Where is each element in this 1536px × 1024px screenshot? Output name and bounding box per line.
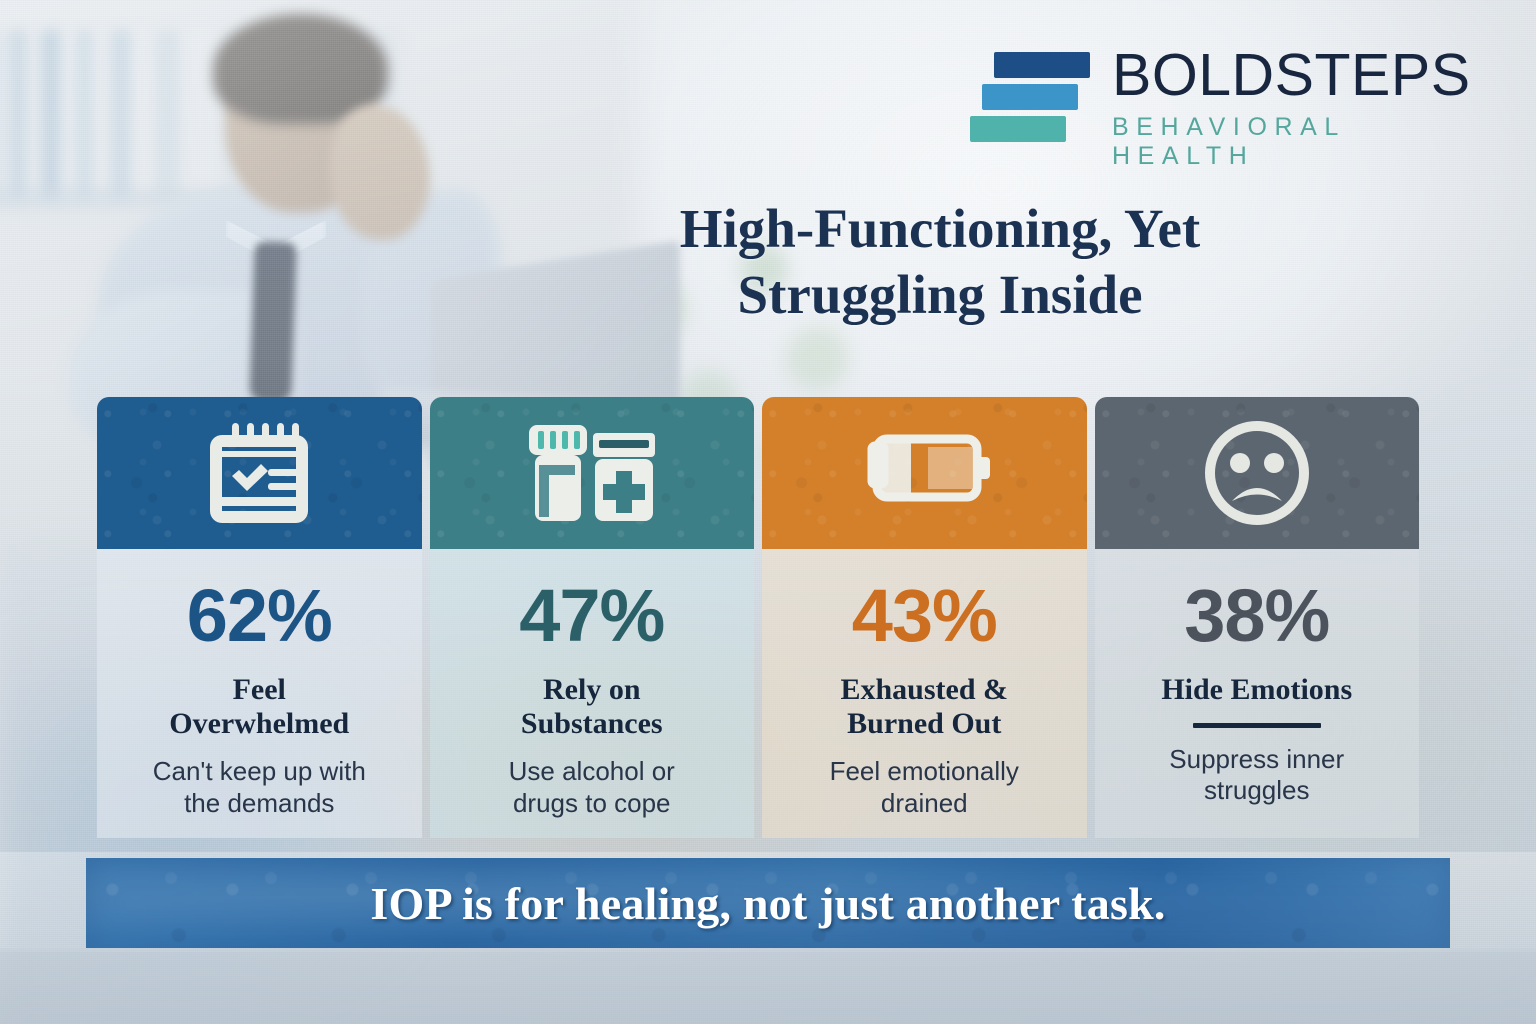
stat-card-body: 38% Hide Emotions Suppress inner struggl… [1095,549,1420,838]
logo-bar-bottom [970,116,1066,142]
stat-title-line-1: Rely on [521,673,663,707]
stat-subtitle-line-1: Can't keep up with [153,756,366,788]
stat-card[interactable]: 62% Feel Overwhelmed Can't keep up with … [97,397,422,838]
stat-title: Hide Emotions [1161,673,1352,707]
stat-percent: 47% [519,579,664,653]
footer-message: IOP is for healing, not just another tas… [370,877,1165,930]
brand-logo-text: BOLDSTEPS BEHAVIORAL HEALTH [1112,46,1490,171]
stat-card-header [430,397,755,549]
footer-banner: IOP is for healing, not just another tas… [86,858,1450,948]
stat-subtitle-line-1: Suppress inner [1169,744,1344,776]
stat-subtitle-line-1: Feel emotionally [830,756,1019,788]
stat-subtitle-line-2: struggles [1169,775,1344,807]
stat-card-header [1095,397,1420,549]
stat-card-header [97,397,422,549]
stat-subtitle: Can't keep up with the demands [153,756,366,819]
page-title: High-Functioning, Yet Struggling Inside [560,196,1320,328]
boldsteps-stairs-icon [970,52,1090,150]
stat-subtitle-line-1: Use alcohol or [509,756,675,788]
stat-title-line-2: Substances [521,707,663,741]
sad-face-icon [1182,419,1332,527]
stat-card-body: 47% Rely on Substances Use alcohol or dr… [430,549,755,838]
brand-logo[interactable]: BOLDSTEPS BEHAVIORAL HEALTH [970,46,1490,158]
infographic-canvas: BOLDSTEPS BEHAVIORAL HEALTH High-Functio… [0,0,1536,1024]
stat-card[interactable]: 38% Hide Emotions Suppress inner struggl… [1095,397,1420,838]
stat-title-line-2: Burned Out [840,707,1008,741]
low-battery-icon [849,419,999,527]
stat-title-line-1: Feel [169,673,349,707]
stat-percent: 43% [852,579,997,653]
bottom-fade [0,948,1536,1024]
stat-subtitle: Suppress inner struggles [1169,744,1344,807]
stat-subtitle: Use alcohol or drugs to cope [509,756,675,819]
stat-subtitle-line-2: the demands [153,788,366,820]
stat-title: Exhausted & Burned Out [840,673,1008,740]
brand-name: BOLDSTEPS [1112,46,1490,105]
stat-card-body: 43% Exhausted & Burned Out Feel emotiona… [762,549,1087,838]
stat-title-line-1: Hide Emotions [1161,673,1352,707]
stat-card-body: 62% Feel Overwhelmed Can't keep up with … [97,549,422,838]
stat-percent: 38% [1184,579,1329,653]
logo-bar-middle [982,84,1078,110]
stat-title-divider [1193,723,1321,728]
brand-tagline: BEHAVIORAL HEALTH [1112,113,1490,171]
page-title-line-2: Struggling Inside [560,262,1320,328]
stat-title: Feel Overwhelmed [169,673,349,740]
stat-card-header [762,397,1087,549]
logo-bar-top [994,52,1090,78]
stat-percent: 62% [187,579,332,653]
stat-title-line-1: Exhausted & [840,673,1008,707]
calendar-checklist-icon [184,419,334,527]
page-title-line-1: High-Functioning, Yet [560,196,1320,262]
stat-card[interactable]: 47% Rely on Substances Use alcohol or dr… [430,397,755,838]
stat-title-line-2: Overwhelmed [169,707,349,741]
stat-card[interactable]: 43% Exhausted & Burned Out Feel emotiona… [762,397,1087,838]
stat-title: Rely on Substances [521,673,663,740]
stat-subtitle: Feel emotionally drained [830,756,1019,819]
stat-subtitle-line-2: drugs to cope [509,788,675,820]
stat-subtitle-line-2: drained [830,788,1019,820]
pill-bottles-icon [517,419,667,527]
stat-card-row: 62% Feel Overwhelmed Can't keep up with … [97,397,1419,838]
